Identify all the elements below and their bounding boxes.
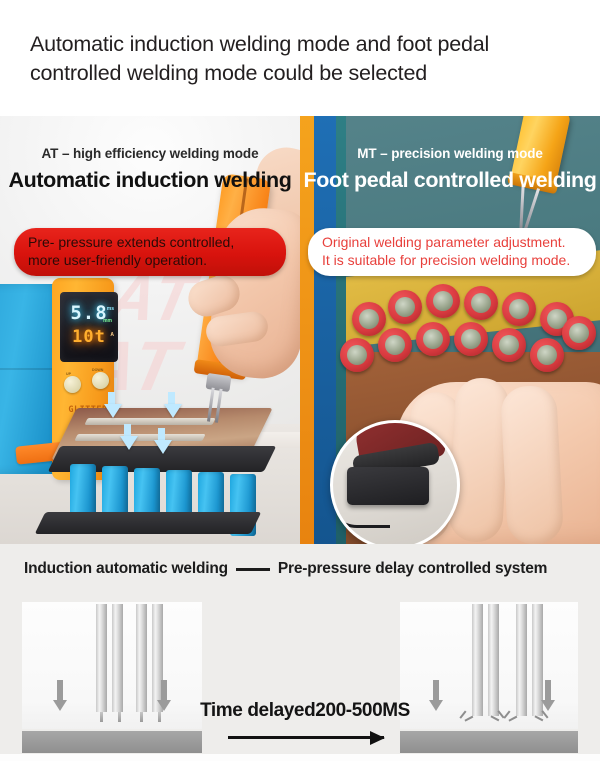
- delay-time-label: Time delayed200-500MS: [175, 700, 435, 722]
- battery-cell: [562, 316, 596, 350]
- battery-cell: [426, 284, 460, 318]
- bottom-divider: [0, 754, 600, 761]
- right-callout-badge: Original welding parameter adjustment. I…: [308, 228, 596, 276]
- battery-cell: [340, 338, 374, 372]
- electrode-tip: [158, 712, 161, 722]
- electrode-rod: [472, 604, 483, 716]
- diagram-caption-right: Pre-pressure delay controlled system: [278, 560, 547, 578]
- workpiece-base-before: [22, 731, 202, 753]
- battery-cell: [454, 322, 488, 356]
- cell-holder-bottom: [35, 512, 262, 534]
- delay-diagram-section: Induction automatic welding Pre-pressure…: [0, 544, 600, 761]
- left-mode-label: AT – high efficiency welding mode: [0, 146, 300, 161]
- battery-cell: [378, 328, 412, 362]
- battery-cell: [464, 286, 498, 320]
- panel-automatic-induction: AT AT 5.8 ms mm 10t A UP DOWN: [0, 116, 300, 544]
- electrode-tip: [100, 712, 103, 722]
- down-arrow-icon: [158, 428, 165, 440]
- pressure-down-arrow-icon: [156, 680, 171, 711]
- down-arrow-icon: [120, 436, 138, 450]
- pressure-down-arrow-icon: [52, 680, 67, 711]
- finger: [500, 385, 564, 544]
- display-unit-primary: ms: [107, 306, 114, 312]
- down-arrow-icon: [124, 424, 131, 436]
- display-unit-middle: mm: [103, 318, 112, 324]
- pressure-down-arrow-icon: [540, 680, 555, 711]
- diagram-caption-left: Induction automatic welding: [24, 560, 228, 578]
- down-arrow-icon: [154, 440, 172, 454]
- display-unit-secondary: A: [110, 332, 114, 338]
- left-callout-badge: Pre- pressure extends controlled, more u…: [14, 228, 286, 276]
- photo-comparison-band: AT AT 5.8 ms mm 10t A UP DOWN: [0, 116, 600, 544]
- down-arrow-icon: [168, 392, 175, 404]
- right-mode-label: MT – precision welding mode: [300, 146, 600, 161]
- diagram-caption: Induction automatic welding Pre-pressure…: [24, 560, 547, 578]
- down-arrow-icon: [108, 392, 115, 404]
- flow-arrow-icon: [228, 736, 384, 739]
- electrode-rod: [488, 604, 499, 716]
- electrode-rod: [112, 604, 123, 712]
- electrode-tip: [140, 712, 143, 722]
- electrode-tip: [118, 712, 121, 722]
- battery-cell: [502, 292, 536, 326]
- knob-label-up: UP: [66, 372, 71, 376]
- battery-cell: [388, 290, 422, 324]
- header-banner: Automatic induction welding mode and foo…: [0, 0, 600, 116]
- battery-cell: [492, 328, 526, 362]
- panel-foot-pedal: MT – precision welding mode Foot pedal c…: [300, 116, 600, 544]
- product-infographic: Automatic induction welding mode and foo…: [0, 0, 600, 761]
- electrode-rod: [136, 604, 147, 712]
- workpiece-base-after: [400, 731, 578, 753]
- battery-cell: [416, 322, 450, 356]
- welding-needle: [207, 388, 215, 422]
- page-title: Automatic induction welding mode and foo…: [30, 30, 590, 88]
- battery-cell: [530, 338, 564, 372]
- welding-needle: [215, 389, 223, 423]
- display-value-secondary: 10t: [60, 327, 118, 347]
- welder-knob-up[interactable]: [64, 376, 81, 393]
- battery-cell: [352, 302, 386, 336]
- electrode-rod: [516, 604, 527, 716]
- welder-display-screen: 5.8 ms mm 10t A: [60, 292, 118, 362]
- right-panel-title: Foot pedal controlled welding: [300, 168, 600, 193]
- caption-dash-divider: [236, 568, 270, 571]
- welder-knob-down[interactable]: [92, 372, 109, 389]
- finger: [448, 377, 511, 544]
- left-panel-title: Automatic induction welding: [0, 168, 300, 193]
- welding-probe: [524, 188, 540, 231]
- down-arrow-icon: [104, 404, 122, 418]
- electrode-rod: [96, 604, 107, 712]
- knob-label-down: DOWN: [92, 368, 103, 372]
- foot-pedal-inset: [330, 420, 460, 544]
- nickel-strip: [74, 434, 205, 441]
